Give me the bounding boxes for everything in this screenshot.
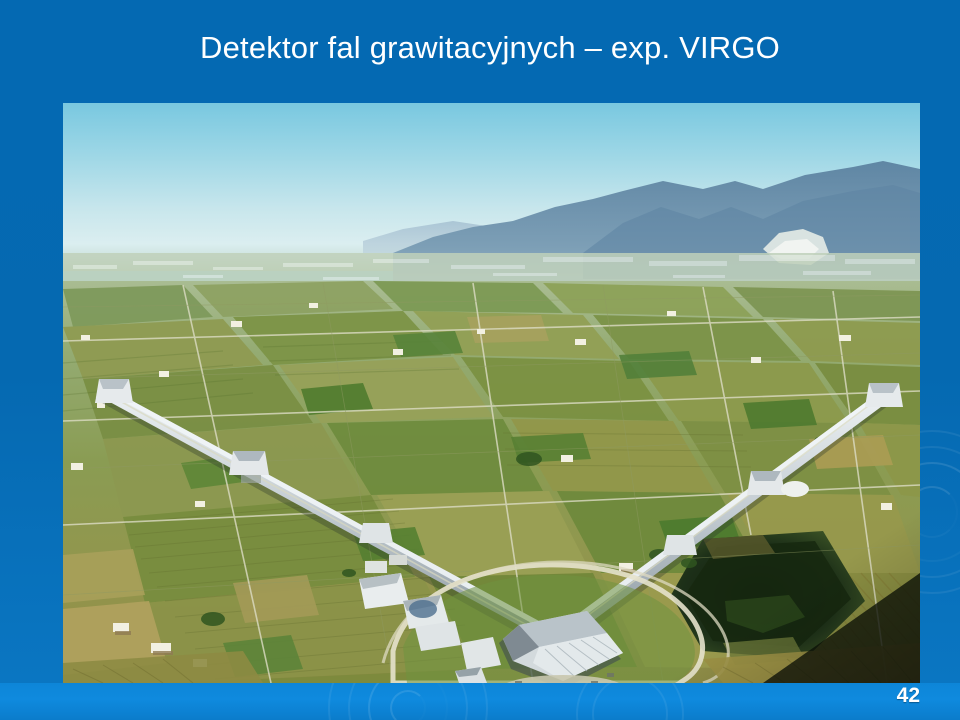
slide: Detektor fal grawitacyjnych – exp. VIRGO (0, 0, 960, 720)
virgo-aerial-photo (63, 103, 920, 683)
virgo-aerial-photo-image (63, 103, 920, 683)
page-title: Detektor fal grawitacyjnych – exp. VIRGO (60, 28, 920, 68)
slide-background-lower (0, 683, 960, 720)
page-number: 42 (897, 685, 920, 707)
